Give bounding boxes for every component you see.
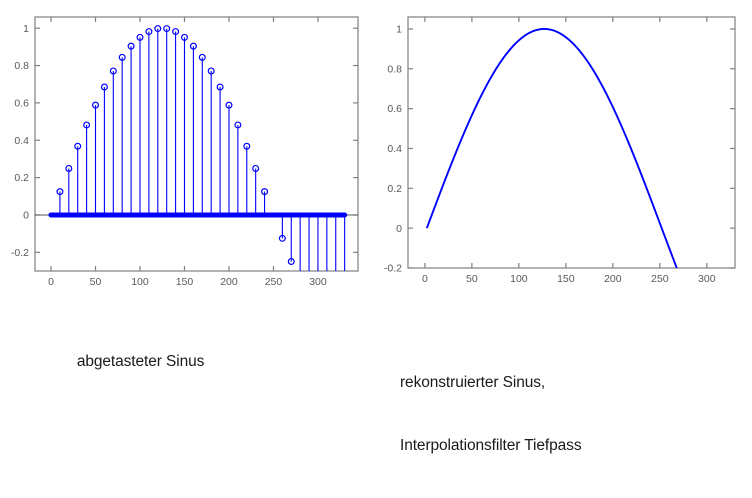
caption-right-line2: Interpolationsfilter Tiefpass [400, 435, 581, 456]
x-tick-label: 50 [466, 273, 478, 285]
stem-series [35, 26, 358, 300]
x-tick-label: 200 [220, 276, 238, 288]
x-tick-label: 250 [651, 273, 669, 285]
x-tick-label: 100 [131, 276, 149, 288]
line-series [427, 29, 677, 268]
y-tick-label: 0.4 [387, 143, 402, 155]
x-tick-label: 200 [604, 273, 622, 285]
figure-container: 050100150200250300-0.200.20.40.60.81 050… [0, 0, 752, 407]
x-tick-label: 50 [90, 276, 102, 288]
x-tick-label: 0 [422, 273, 428, 285]
caption-left: abgetasteter Sinus [60, 330, 204, 393]
chart-panel-rekonstruierter-sinus: 050100150200250300-0.200.20.40.60.81 [376, 0, 752, 300]
caption-right-line1: rekonstruierter Sinus, [400, 372, 581, 393]
y-tick-label: 0.8 [387, 63, 402, 75]
y-tick-label: 0.6 [14, 98, 29, 110]
y-tick-label: 0.4 [14, 135, 29, 147]
x-tick-label: 150 [176, 276, 194, 288]
sine-curve [427, 29, 677, 268]
y-tick-label: 0 [396, 223, 402, 235]
y-tick-label: 0.2 [14, 172, 29, 184]
y-tick-label: 1 [396, 24, 402, 36]
chart-panel-abgetasteter-sinus: 050100150200250300-0.200.20.40.60.81 [0, 0, 376, 300]
stem-plot-svg: 050100150200250300-0.200.20.40.60.81 [0, 0, 376, 300]
x-tick-label: 150 [557, 273, 575, 285]
y-tick-label: 1 [23, 23, 29, 35]
axes-box [408, 17, 735, 268]
y-tick-label: -0.2 [384, 263, 402, 275]
y-tick-label: 0.6 [387, 103, 402, 115]
x-tick-label: 300 [698, 273, 716, 285]
y-tick-label: 0.2 [387, 183, 402, 195]
x-tick-label: 100 [510, 273, 528, 285]
caption-left-text: abgetasteter Sinus [77, 353, 204, 370]
caption-right: rekonstruierter Sinus, Interpolationsfil… [400, 330, 581, 498]
y-tick-label: 0 [23, 210, 29, 222]
x-tick-label: 250 [265, 276, 283, 288]
x-tick-label: 0 [48, 276, 54, 288]
x-tick-label: 300 [309, 276, 327, 288]
y-tick-label: -0.2 [11, 247, 29, 259]
y-tick-label: 0.8 [14, 60, 29, 72]
line-plot-svg: 050100150200250300-0.200.20.40.60.81 [376, 0, 752, 300]
